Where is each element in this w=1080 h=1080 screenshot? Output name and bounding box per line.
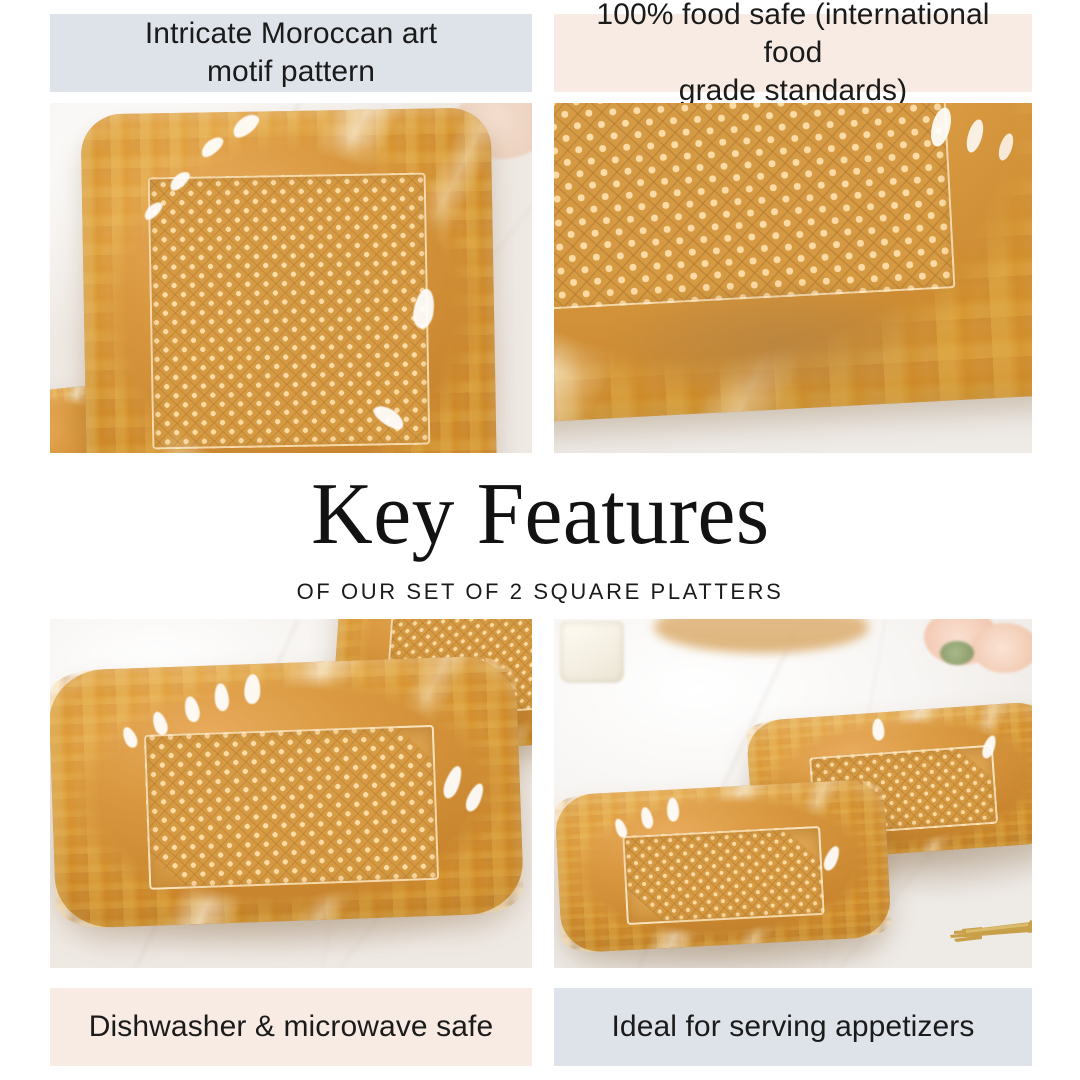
platter-well-frame bbox=[622, 826, 824, 925]
feature-image-top-right bbox=[554, 103, 1032, 453]
feature-label-top-right: 100% food safe (international food grade… bbox=[554, 0, 1032, 110]
feature-label-line1: 100% food safe (international food bbox=[564, 0, 1022, 72]
feature-image-bottom-right bbox=[554, 619, 1032, 968]
feature-label-line2: motif pattern bbox=[135, 53, 447, 91]
platter-shadow bbox=[614, 283, 944, 403]
feature-banner-top-right: 100% food safe (international food grade… bbox=[554, 14, 1032, 92]
headline-block: Key Features OF OUR SET OF 2 SQUARE PLAT… bbox=[0, 458, 1080, 618]
gold-fork-prop bbox=[904, 900, 1032, 956]
infographic-canvas: Intricate Moroccan art motif pattern bbox=[0, 0, 1080, 1080]
platter-well bbox=[554, 103, 956, 313]
platter-well bbox=[144, 725, 439, 890]
platter-front bbox=[554, 778, 892, 953]
platter-well-frame bbox=[554, 103, 956, 313]
rose-prop bbox=[972, 623, 1032, 673]
feature-image-top-left bbox=[50, 103, 532, 453]
feature-label-bottom-right: Ideal for serving appetizers bbox=[602, 1008, 985, 1046]
page-subtitle: OF OUR SET OF 2 SQUARE PLATTERS bbox=[297, 579, 784, 605]
platter-well-frame bbox=[144, 725, 439, 890]
feature-label-bottom-left: Dishwasher & microwave safe bbox=[79, 1008, 504, 1046]
feature-label-line1: Intricate Moroccan art bbox=[135, 15, 447, 53]
platter-front bbox=[50, 655, 524, 929]
feature-label-top-left: Intricate Moroccan art motif pattern bbox=[125, 15, 457, 91]
feature-banner-bottom-left: Dishwasher & microwave safe bbox=[50, 988, 532, 1066]
page-title: Key Features bbox=[311, 471, 770, 559]
feature-image-bottom-left bbox=[50, 619, 532, 968]
platter-main bbox=[81, 107, 498, 453]
glass-prop bbox=[560, 621, 624, 683]
leaf-prop bbox=[940, 641, 974, 665]
feature-banner-top-left: Intricate Moroccan art motif pattern bbox=[50, 14, 532, 92]
feature-banner-bottom-right: Ideal for serving appetizers bbox=[554, 988, 1032, 1066]
platter-well bbox=[622, 826, 824, 925]
